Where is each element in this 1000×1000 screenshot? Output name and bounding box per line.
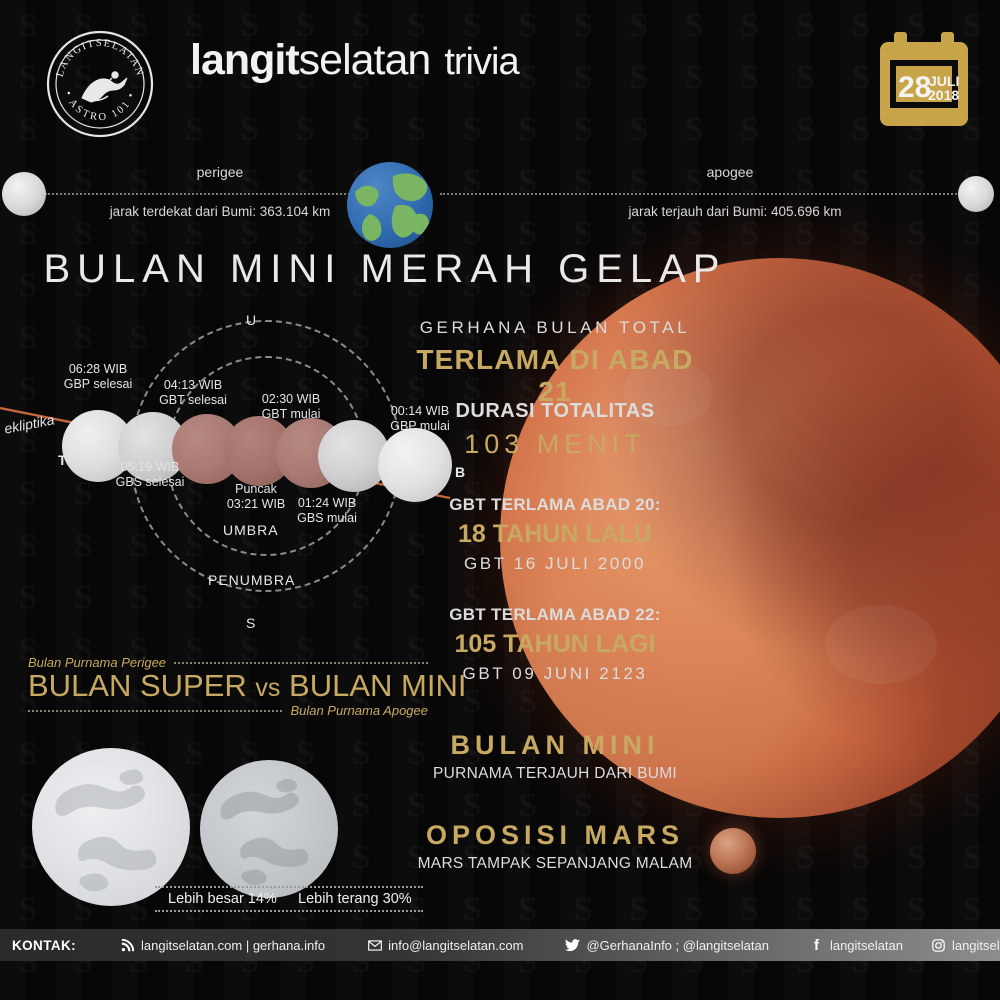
c20-caption: GBT TERLAMA ABAD 20: — [410, 495, 700, 515]
c20-date: GBT 16 JULI 2000 — [410, 554, 700, 574]
rss-icon — [120, 938, 135, 953]
eclipse-caption: GERHANA BULAN TOTAL — [410, 318, 700, 338]
brand-title: langitselatantrivia — [190, 36, 519, 85]
umbra-label: UMBRA — [223, 522, 279, 538]
note-dash-top — [174, 662, 428, 664]
perigee-label: perigee — [110, 164, 330, 180]
facebook-icon: f — [809, 938, 824, 953]
c22-date: GBT 09 JUNI 2123 — [410, 664, 700, 684]
stat-mars-opposition: OPOSISI MARS MARS TAMPAK SEPANJANG MALAM — [410, 820, 700, 873]
footer-twitter-text: @GerhanaInfo ; @langitselatan — [586, 938, 769, 953]
bright-label: Lebih terang 30% — [298, 891, 412, 907]
footer-website[interactable]: langitselatan.com | gerhana.info — [120, 938, 325, 953]
apogee-moon-icon — [958, 176, 994, 212]
phase-time-0: 06:28 WIB — [38, 362, 158, 377]
eclipse-path-diagram: ekliptika 06:28 WIB GBP selesai 05:19 WI… — [0, 300, 470, 650]
phase-time-1: 05:19 WIB — [90, 460, 210, 475]
twitter-icon — [565, 938, 580, 953]
date-calendar-badge: 28 JULI 2018 — [874, 28, 974, 138]
supermoon-vs-minimoon-header: Bulan Purnama Perigee BULAN SUPER vs BUL… — [28, 655, 428, 718]
bright-label-dots — [155, 910, 423, 912]
compare-headline: BULAN SUPER vs BULAN MINI — [28, 668, 428, 704]
perigee-distance: jarak terdekat dari Bumi: 363.104 km — [60, 204, 380, 219]
phase-time-2: 04:13 WIB — [128, 378, 258, 393]
note-dash-bottom — [28, 710, 282, 712]
phase-event-3: GBT mulai — [226, 407, 356, 422]
stat-minimoon: BULAN MINI PURNAMA TERJAUH DARI BUMI — [410, 730, 700, 783]
size-label-dots — [155, 886, 423, 888]
perigee-dotted-line — [45, 193, 365, 195]
footer-email-text: info@langitselatan.com — [388, 938, 523, 953]
c20-value: 18 TAHUN LALU — [410, 520, 700, 549]
kontak-label: KONTAK: — [12, 938, 76, 953]
minimoon-title: BULAN MINI — [410, 730, 700, 761]
marker-u: U — [246, 312, 257, 328]
phase-event-4: GBS mulai — [262, 511, 392, 526]
stat-eclipse-longest: GERHANA BULAN TOTAL TERLAMA DI ABAD 21 — [410, 318, 700, 408]
minimoon-sub: PURNAMA TERJAUH DARI BUMI — [410, 765, 700, 783]
apogee-distance: jarak terjauh dari Bumi: 405.696 km — [560, 204, 910, 219]
marker-t: T — [58, 452, 68, 468]
size-label: Lebih besar 14% — [168, 891, 277, 907]
mars-planet-image — [710, 828, 756, 874]
marker-s: S — [246, 615, 256, 631]
peak-time: 03:21 WIB — [196, 497, 316, 512]
footer-twitter[interactable]: @GerhanaInfo ; @langitselatan — [565, 938, 769, 953]
peak-label: Puncak 03:21 WIB — [196, 482, 316, 512]
stat-century-22: GBT TERLAMA ABAD 22: 105 TAHUN LAGI GBT … — [410, 605, 700, 684]
mail-icon — [367, 938, 382, 953]
contact-footer: KONTAK: langitselatan.com | gerhana.info… — [0, 929, 1000, 961]
headline-supermoon: BULAN SUPER — [28, 668, 247, 703]
c22-value: 105 TAHUN LAGI — [410, 630, 700, 659]
stat-century-20: GBT TERLAMA ABAD 20: 18 TAHUN LALU GBT 1… — [410, 495, 700, 574]
footer-facebook[interactable]: f langitselatan — [809, 938, 903, 953]
langitselatan-logo[interactable]: LANGITSELATAN • ASTRO 101 • — [30, 28, 170, 138]
footer-facebook-text: langitselatan — [830, 938, 903, 953]
calendar-day: 28 — [898, 71, 931, 104]
footer-website-text: langitselatan.com | gerhana.info — [141, 938, 325, 953]
infographic-canvas: SSSSSSSSSSSSSSSSSSSSSSSSSSSSSSSSSSSSSSSS… — [0, 0, 1000, 1000]
marker-b: B — [455, 464, 466, 480]
brand-trivia: trivia — [444, 41, 518, 83]
perigee-moon-icon — [2, 172, 46, 216]
peak-text: Puncak — [196, 482, 316, 497]
duration-value: 103 MENIT — [410, 429, 700, 460]
apogee-note: Bulan Purnama Apogee — [290, 703, 428, 718]
eclipse-headline: TERLAMA DI ABAD 21 — [410, 344, 700, 408]
minimoon-disc — [200, 760, 338, 898]
footer-instagram-text: langitselatanmedia — [952, 938, 1000, 953]
mars-sub: MARS TAMPAK SEPANJANG MALAM — [410, 855, 700, 873]
apogee-label: apogee — [620, 164, 840, 180]
brand-langit: langit — [190, 36, 299, 84]
duration-caption: DURASI TOTALITAS — [410, 400, 700, 423]
phase-label-1: 05:19 WIB GBS selesai — [90, 460, 210, 490]
mars-title: OPOSISI MARS — [410, 820, 700, 851]
penumbra-label: PENUMBRA — [208, 572, 295, 588]
footer-instagram[interactable]: langitselatanmedia — [931, 938, 1000, 953]
phase-time-3: 02:30 WIB — [226, 392, 356, 407]
apogee-dotted-line — [440, 193, 960, 195]
perigee-apogee-band: perigee jarak terdekat dari Bumi: 363.10… — [0, 150, 1000, 260]
c22-caption: GBT TERLAMA ABAD 22: — [410, 605, 700, 625]
calendar-year: 2018 — [928, 87, 959, 103]
footer-email[interactable]: info@langitselatan.com — [367, 938, 523, 953]
instagram-icon — [931, 938, 946, 953]
phase-event-1: GBS selesai — [90, 475, 210, 490]
headline-vs: vs — [255, 674, 280, 702]
supermoon-disc — [32, 748, 190, 906]
brand-selatan: selatan — [299, 36, 431, 84]
stat-duration: DURASI TOTALITAS 103 MENIT — [410, 400, 700, 460]
page-title: BULAN MINI MERAH GELAP — [0, 247, 770, 292]
phase-label-3: 02:30 WIB GBT mulai — [226, 392, 356, 422]
